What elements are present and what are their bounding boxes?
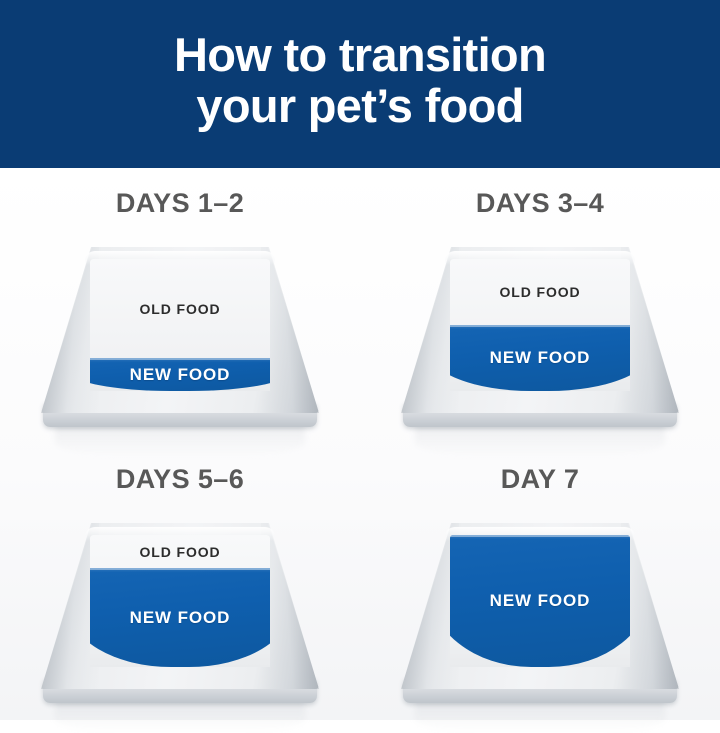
transition-step-1: DAYS 1–2 OLD FOOD NEW FOOD xyxy=(0,168,360,444)
food-bowl-4: NEW FOOD xyxy=(401,513,679,703)
food-bowl-1: OLD FOOD NEW FOOD xyxy=(41,237,319,427)
step-label-days-1-2: DAYS 1–2 xyxy=(116,190,244,217)
page-title: How to transition your pet’s food xyxy=(174,30,546,132)
new-food-fill xyxy=(90,568,270,667)
new-food-fill xyxy=(90,358,270,391)
bowl-cavity: OLD FOOD NEW FOOD xyxy=(90,535,270,667)
food-bowl-2: OLD FOOD NEW FOOD xyxy=(401,237,679,427)
bowl-cavity: OLD FOOD NEW FOOD xyxy=(450,259,630,391)
header-banner: How to transition your pet’s food xyxy=(0,0,720,168)
step-label-days-3-4: DAYS 3–4 xyxy=(476,190,604,217)
transition-steps-grid: DAYS 1–2 OLD FOOD NEW FOOD DAYS 3–4 xyxy=(0,168,720,720)
new-food-fill xyxy=(450,535,630,667)
step-label-day-7: DAY 7 xyxy=(501,466,580,493)
bowl-cavity: NEW FOOD xyxy=(450,535,630,667)
food-bowl-3: OLD FOOD NEW FOOD xyxy=(41,513,319,703)
new-food-fill xyxy=(450,325,630,391)
bowl-cavity: OLD FOOD NEW FOOD xyxy=(90,259,270,391)
transition-step-2: DAYS 3–4 OLD FOOD NEW FOOD xyxy=(360,168,720,444)
transition-step-3: DAYS 5–6 OLD FOOD NEW FOOD xyxy=(0,444,360,720)
step-label-days-5-6: DAYS 5–6 xyxy=(116,466,244,493)
transition-step-4: DAY 7 NEW FOOD xyxy=(360,444,720,720)
